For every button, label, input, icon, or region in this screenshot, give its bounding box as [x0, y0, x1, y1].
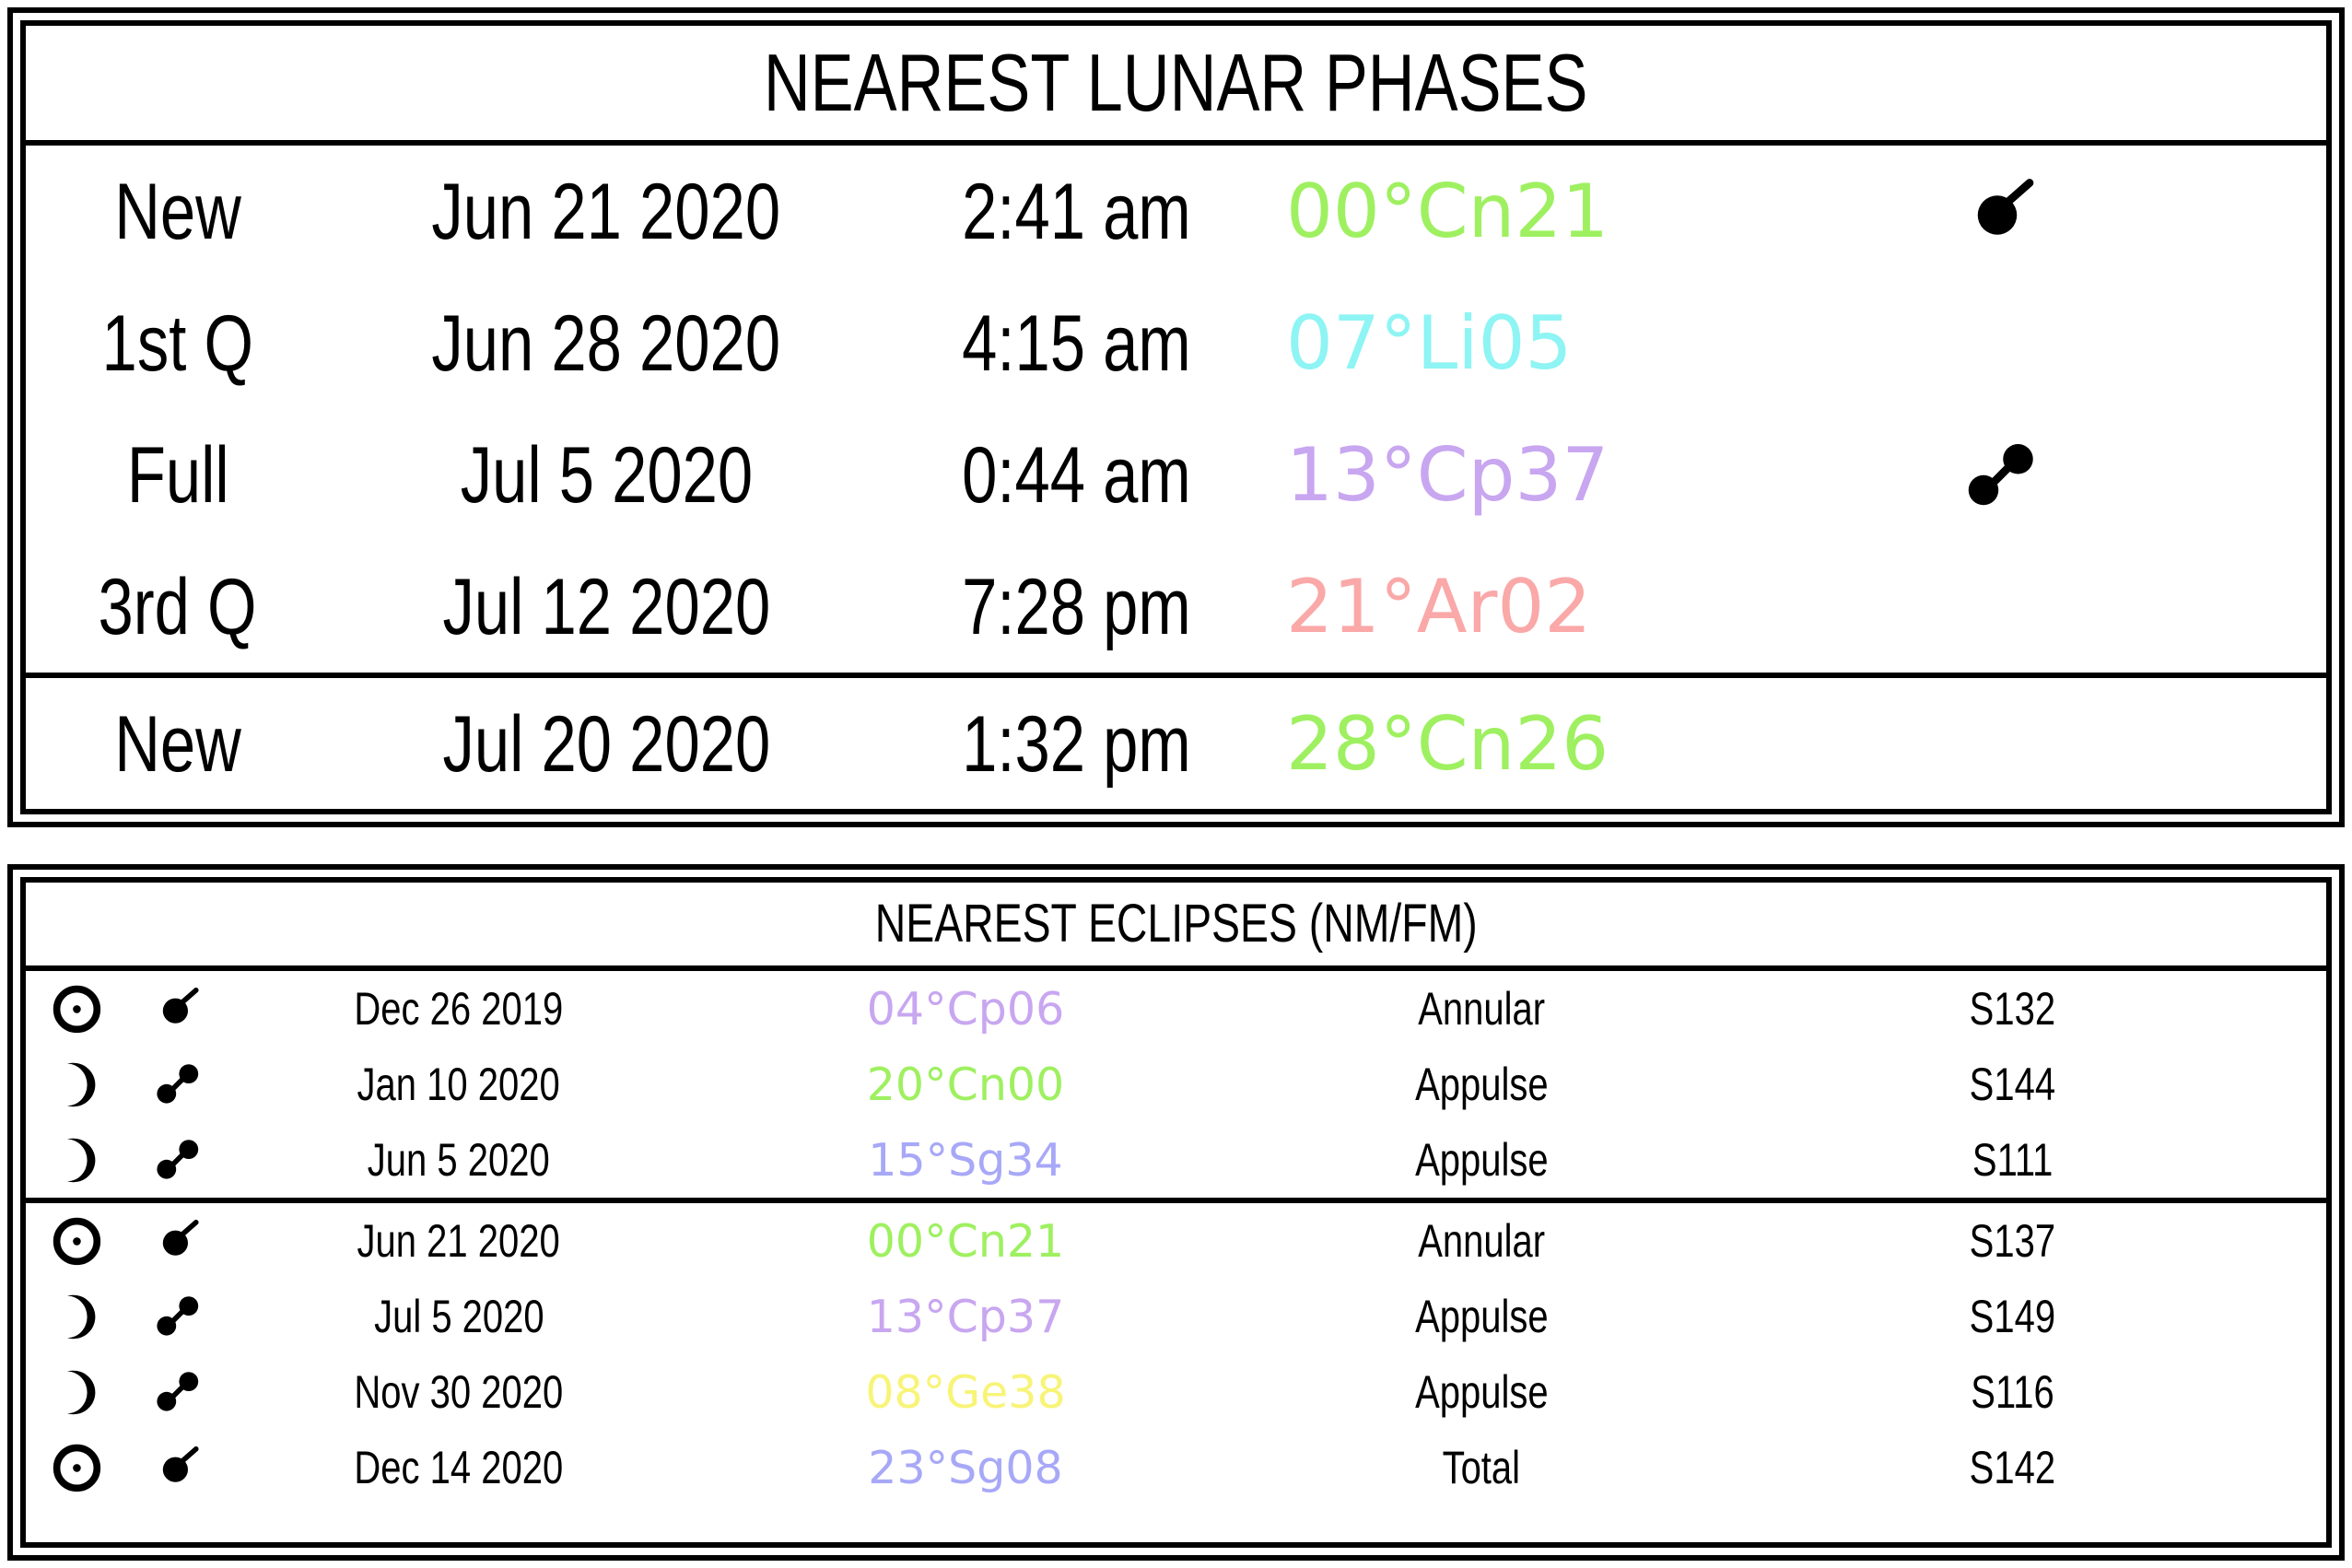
lunar-phases-title: NEAREST LUNAR PHASES [764, 42, 1588, 123]
phase-date: Jul 5 2020 [330, 436, 883, 515]
eclipse-nmfm-cell [127, 1061, 228, 1107]
eclipse-saros-series: S116 [1721, 1369, 2326, 1415]
eclipse-row[interactable]: Jul 5 202013°Cp37AppulseS149 [26, 1279, 2326, 1354]
eclipse-zodiac-position: 08°Ge38 [689, 1370, 1242, 1415]
lunar-phase-row[interactable]: 3rd QJul 12 20207:28 pm21°Ar02 [26, 541, 2326, 673]
eclipse-type: Appulse [1242, 1293, 1721, 1340]
eclipse-luminary-cell [26, 1365, 127, 1420]
eclipse-type: Annular [1242, 1218, 1721, 1264]
lunar-phase-row[interactable]: NewJun 21 20202:41 am00°Cn21 [26, 146, 2326, 277]
new-moon-glyph [155, 986, 201, 1032]
eclipse-zodiac-position: 04°Cp06 [689, 987, 1242, 1032]
eclipse-saros-series: S149 [1721, 1293, 2326, 1340]
new-moon-glyph [155, 1218, 201, 1264]
phase-time: 7:28 pm [883, 568, 1270, 647]
eclipse-nmfm-cell [127, 1293, 228, 1340]
phase-zodiac-position: 13°Cp37 [1270, 439, 1675, 512]
eclipse-saros-series: S132 [1721, 986, 2326, 1032]
eclipse-luminary-cell [26, 1058, 127, 1112]
eclipse-date: Jun 5 2020 [228, 1137, 689, 1183]
lunar-phases-panel: NEAREST LUNAR PHASES NewJun 21 20202:41 … [7, 7, 2345, 827]
lunar-phases-group: NewJun 21 20202:41 am00°Cn211st QJun 28 … [26, 146, 2326, 673]
phase-name: 1st Q [26, 304, 330, 383]
eclipse-zodiac-position: 13°Cp37 [689, 1294, 1242, 1340]
moon-symbol [50, 1365, 104, 1420]
phase-moon-glyph-cell [1675, 439, 2326, 511]
eclipse-luminary-cell [26, 1214, 127, 1269]
eclipses-group: Dec 26 201904°Cp06AnnularS132Jan 10 2020… [26, 971, 2326, 1198]
eclipse-date: Jul 5 2020 [228, 1293, 689, 1340]
eclipse-nmfm-cell [127, 1369, 228, 1415]
eclipse-nmfm-cell [127, 1218, 228, 1264]
phase-zodiac-position: 07°Li05 [1270, 307, 1675, 380]
eclipses-title: NEAREST ECLIPSES (NM/FM) [875, 897, 1478, 951]
eclipse-row[interactable]: Jan 10 202020°Cn00AppulseS144 [26, 1047, 2326, 1122]
phase-time: 0:44 am [883, 436, 1270, 515]
phase-date: Jul 12 2020 [330, 568, 883, 647]
phase-name: New [26, 705, 330, 784]
full-moon-glyph [155, 1061, 201, 1107]
eclipses-group: Jun 21 202000°Cn21AnnularS137Jul 5 20201… [26, 1198, 2326, 1505]
new-moon-glyph [1965, 176, 2037, 248]
eclipse-date: Jun 21 2020 [228, 1218, 689, 1264]
full-moon-glyph [155, 1137, 201, 1183]
eclipse-type: Appulse [1242, 1061, 1721, 1107]
eclipse-saros-series: S142 [1721, 1445, 2326, 1491]
lunar-phase-row[interactable]: NewJul 20 20201:32 pm28°Cn26 [26, 678, 2326, 810]
phase-time: 2:41 am [883, 172, 1270, 252]
eclipse-date: Jan 10 2020 [228, 1061, 689, 1107]
eclipse-saros-series: S137 [1721, 1218, 2326, 1264]
lunar-phases-group: NewJul 20 20201:32 pm28°Cn26 [26, 673, 2326, 810]
phase-date: Jun 28 2020 [330, 304, 883, 383]
eclipse-saros-series: S111 [1721, 1137, 2326, 1183]
eclipse-row[interactable]: Jun 5 202015°Sg34AppulseS111 [26, 1122, 2326, 1198]
lunar-phases-table: NEAREST LUNAR PHASES NewJun 21 20202:41 … [20, 20, 2332, 814]
eclipses-panel: NEAREST ECLIPSES (NM/FM) Dec 26 201904°C… [7, 864, 2345, 1561]
eclipse-row[interactable]: Jun 21 202000°Cn21AnnularS137 [26, 1203, 2326, 1279]
sun-symbol [50, 1441, 104, 1495]
eclipses-title-row: NEAREST ECLIPSES (NM/FM) [26, 883, 2326, 971]
eclipse-row[interactable]: Dec 14 202023°Sg08TotalS142 [26, 1430, 2326, 1505]
phase-date: Jul 20 2020 [330, 705, 883, 784]
eclipse-zodiac-position: 20°Cn00 [689, 1062, 1242, 1107]
moon-symbol [50, 1290, 104, 1344]
eclipse-type: Total [1242, 1445, 1721, 1491]
phase-name: 3rd Q [26, 568, 330, 647]
eclipse-nmfm-cell [127, 1445, 228, 1491]
eclipse-luminary-cell [26, 1133, 127, 1188]
eclipse-date: Dec 26 2019 [228, 986, 689, 1032]
phase-name: Full [26, 436, 330, 515]
eclipse-date: Nov 30 2020 [228, 1369, 689, 1415]
eclipse-type: Appulse [1242, 1137, 1721, 1183]
phase-zodiac-position: 28°Cn26 [1270, 708, 1675, 781]
phase-date: Jun 21 2020 [330, 172, 883, 252]
lunar-phase-row[interactable]: FullJul 5 20200:44 am13°Cp37 [26, 409, 2326, 541]
phase-zodiac-position: 00°Cn21 [1270, 175, 1675, 249]
sun-symbol [50, 1214, 104, 1269]
eclipse-date: Dec 14 2020 [228, 1445, 689, 1491]
eclipse-luminary-cell [26, 982, 127, 1036]
eclipse-nmfm-cell [127, 986, 228, 1032]
eclipse-luminary-cell [26, 1441, 127, 1495]
eclipse-nmfm-cell [127, 1137, 228, 1183]
eclipse-row[interactable]: Nov 30 202008°Ge38AppulseS116 [26, 1354, 2326, 1430]
eclipses-table: NEAREST ECLIPSES (NM/FM) Dec 26 201904°C… [20, 877, 2332, 1548]
eclipse-saros-series: S144 [1721, 1061, 2326, 1107]
eclipse-row[interactable]: Dec 26 201904°Cp06AnnularS132 [26, 971, 2326, 1047]
full-moon-glyph [155, 1369, 201, 1415]
eclipse-zodiac-position: 15°Sg34 [689, 1138, 1242, 1183]
full-moon-glyph [1965, 439, 2037, 511]
phase-zodiac-position: 21°Ar02 [1270, 570, 1675, 644]
sun-symbol [50, 982, 104, 1036]
full-moon-glyph [155, 1293, 201, 1340]
eclipse-type: Appulse [1242, 1369, 1721, 1415]
eclipses-rows: Dec 26 201904°Cp06AnnularS132Jan 10 2020… [26, 971, 2326, 1542]
eclipse-luminary-cell [26, 1290, 127, 1344]
eclipse-zodiac-position: 00°Cn21 [689, 1219, 1242, 1264]
moon-symbol [50, 1058, 104, 1112]
phase-time: 4:15 am [883, 304, 1270, 383]
lunar-phase-row[interactable]: 1st QJun 28 20204:15 am07°Li05 [26, 277, 2326, 409]
moon-symbol [50, 1133, 104, 1188]
new-moon-glyph [155, 1445, 201, 1491]
lunar-phases-rows: NewJun 21 20202:41 am00°Cn211st QJun 28 … [26, 146, 2326, 810]
phase-name: New [26, 172, 330, 252]
eclipse-type: Annular [1242, 986, 1721, 1032]
phase-time: 1:32 pm [883, 705, 1270, 784]
eclipse-zodiac-position: 23°Sg08 [689, 1445, 1242, 1491]
lunar-phases-title-row: NEAREST LUNAR PHASES [26, 26, 2326, 146]
lunar-phases-and-eclipses-page: NEAREST LUNAR PHASES NewJun 21 20202:41 … [0, 0, 2352, 1568]
phase-moon-glyph-cell [1675, 176, 2326, 248]
